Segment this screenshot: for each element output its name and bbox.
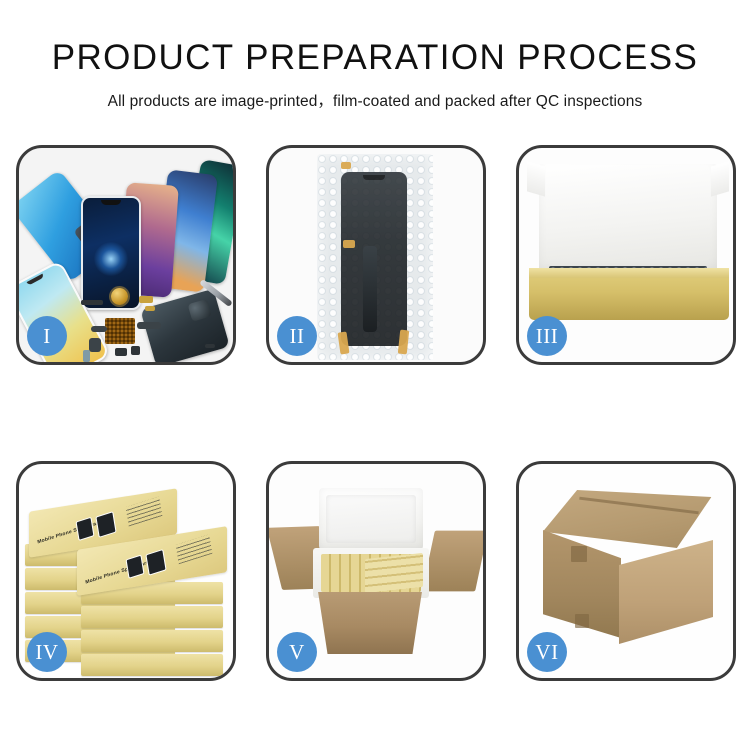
box-label-thumbnail-icon [126,555,145,579]
camera-lens-icon [83,350,90,362]
component-chip-icon [131,346,140,355]
carton-tab-icon [571,546,587,562]
inner-boxes-icon [365,553,423,593]
header: PRODUCT PREPARATION PROCESS All products… [0,0,750,111]
step-card-6: VI [516,461,736,681]
box-label-thumbnail-icon [145,549,166,576]
carton-right-face-icon [619,540,713,644]
step-badge-5: V [277,632,317,672]
gold-connector-icon [145,306,155,311]
box-label-detail-lines [176,534,213,564]
step-3-illustration: III [519,148,733,362]
page-title: PRODUCT PREPARATION PROCESS [0,40,750,77]
carton-front-icon [311,592,429,654]
step-badge-1: I [27,316,67,356]
box-label-thumbnail-icon [95,511,116,538]
stacked-box [81,654,223,676]
tape-icon [343,240,355,248]
step-card-2: II [266,145,486,365]
tape-icon [398,330,409,355]
box-label-detail-lines [126,497,163,527]
step-card-1: I [16,145,236,365]
step-badge-4: IV [27,632,67,672]
page-subtitle: All products are image-printed，film-coat… [0,89,750,111]
flex-cable-icon [91,326,107,332]
tape-icon [341,162,351,169]
infographic-page: PRODUCT PREPARATION PROCESS All products… [0,0,750,750]
step-2-illustration: II [269,148,483,362]
screen-flex-tail-icon [363,246,377,332]
bubble-wrap-bag-icon [317,154,433,360]
step-1-illustration: I [19,148,233,362]
stacked-box [81,606,223,628]
process-step-grid: I II III [16,145,735,681]
step-6-illustration: VI [519,464,733,678]
foam-lid-icon [319,488,423,550]
step-4-illustration: Mobile Phone Spare Parts Mobile Phone Sp… [19,464,233,678]
flex-cable-icon [89,338,101,352]
component-chip-icon [115,348,127,356]
screw-icon [205,344,215,348]
box-lid-icon [539,164,717,274]
step-card-3: III [516,145,736,365]
speaker-coil-icon [111,288,128,305]
gold-connector-icon [139,296,153,303]
box-label-thumbnail-icon [76,517,95,541]
stacked-box [81,630,223,652]
flex-cable-icon [137,322,161,329]
step-badge-3: III [527,316,567,356]
ic-array-icon [105,318,135,344]
step-badge-2: II [277,316,317,356]
step-5-illustration: V [269,464,483,678]
box-base-icon [529,268,729,320]
step-badge-6: VI [527,632,567,672]
step-card-4: Mobile Phone Spare Parts Mobile Phone Sp… [16,461,236,681]
step-card-5: V [266,461,486,681]
carton-tab-icon [575,614,589,628]
component-chip-icon [81,300,103,305]
carton-flap-right-icon [422,531,483,592]
